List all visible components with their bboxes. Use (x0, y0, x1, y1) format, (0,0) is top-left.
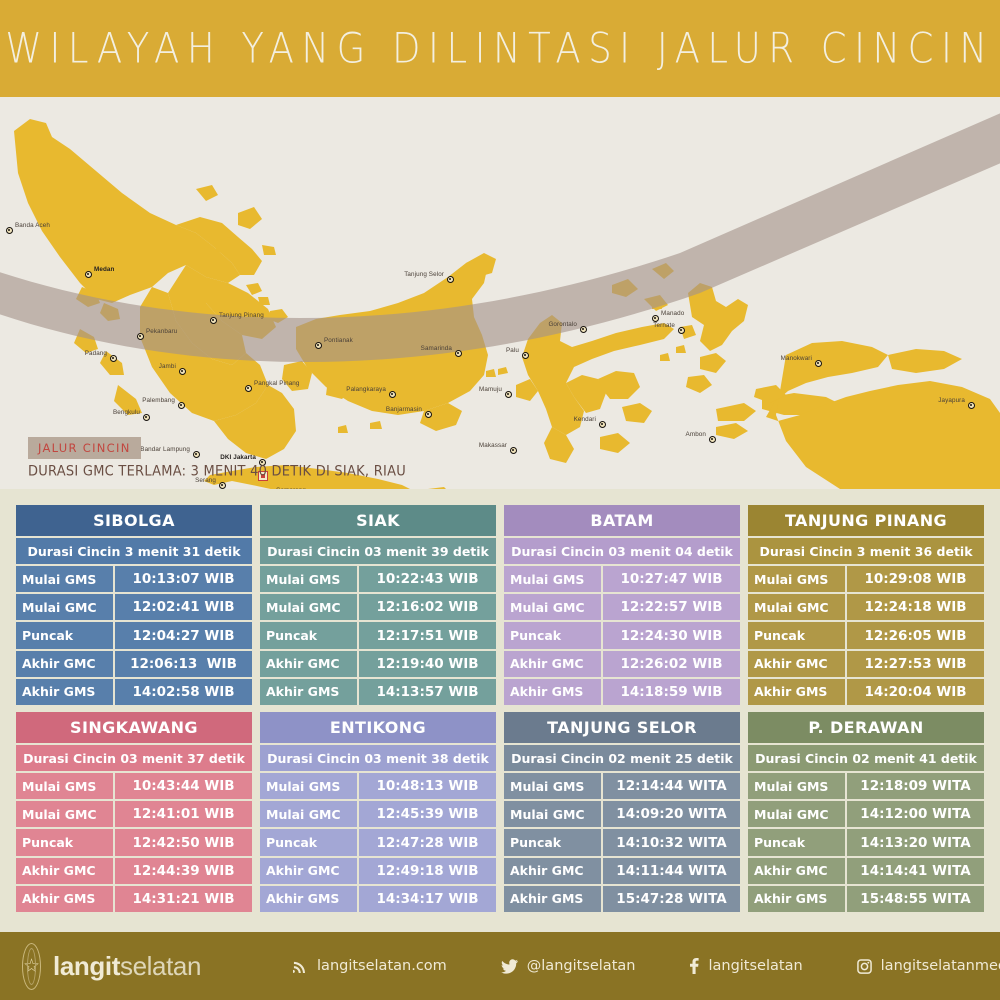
row-label: Akhir GMC (16, 858, 113, 884)
city-pin-icon (179, 368, 186, 375)
seal-inner-ring (27, 948, 36, 985)
page-header: WILAYAH YANG DILINTASI JALUR CINCIN (0, 0, 1000, 97)
table-row: Mulai GMS10:43:44 WIB (16, 773, 252, 799)
table-row: Akhir GMC12:06:13 WIB (16, 651, 252, 677)
row-value: 12:45:39 WIB (359, 801, 496, 827)
table-row: Mulai GMS10:48:13 WIB (260, 773, 496, 799)
row-label: Puncak (16, 622, 113, 648)
row-label: Akhir GMC (260, 858, 357, 884)
table-row: Mulai GMS10:13:07 WIB (16, 566, 252, 592)
table-row: Akhir GMS14:20:04 WIB (748, 679, 984, 705)
city-pin-icon (245, 385, 252, 392)
row-value: 10:13:07 WIB (115, 566, 252, 592)
table-row: Puncak14:13:20 WITA (748, 829, 984, 855)
city-pin-icon (389, 391, 396, 398)
city-pin-icon (425, 411, 432, 418)
table-row: Mulai GMC12:02:41 WIB (16, 594, 252, 620)
card-duration: Durasi Cincin 03 menit 04 detik (504, 538, 740, 564)
table-row: Akhir GMC14:11:44 WITA (504, 858, 740, 884)
table-row: Akhir GMS14:18:59 WIB (504, 679, 740, 705)
card-title: P. DERAWAN (748, 712, 984, 743)
page-title: WILAYAH YANG DILINTASI JALUR CINCIN (5, 24, 994, 72)
row-value: 12:47:28 WIB (359, 829, 496, 855)
row-value: 10:22:43 WIB (359, 566, 496, 592)
row-value: 14:10:32 WITA (603, 829, 740, 855)
twitter-icon (501, 959, 518, 974)
brand-wordmark-light: selatan (120, 951, 201, 981)
row-label: Mulai GMC (260, 594, 357, 620)
table-row: Puncak12:47:28 WIB (260, 829, 496, 855)
city-label: Ambon (686, 431, 706, 438)
row-label: Akhir GMS (504, 679, 601, 705)
city-label: Pangkal Pinang (254, 380, 300, 387)
row-value: 14:13:20 WITA (847, 829, 984, 855)
table-row: Akhir GMC12:26:02 WIB (504, 651, 740, 677)
table-row: Akhir GMS14:02:58 WIB (16, 679, 252, 705)
map-graphic (0, 97, 1000, 489)
card-title: SINGKAWANG (16, 712, 252, 743)
row-label: Mulai GMS (16, 773, 113, 799)
table-row: Akhir GMC12:44:39 WIB (16, 858, 252, 884)
social-label: langitselatan.com (317, 958, 447, 974)
city-label: Mamuju (479, 386, 502, 393)
city-pin-icon (447, 276, 454, 283)
row-label: Puncak (260, 829, 357, 855)
social-link-instagram[interactable]: langitselatanmedia (857, 958, 1000, 974)
row-label: Mulai GMS (260, 773, 357, 799)
row-label: Akhir GMS (16, 886, 113, 912)
row-label: Puncak (504, 829, 601, 855)
row-value: 12:02:41 WIB (115, 594, 252, 620)
card-duration: Durasi Cincin 02 menit 41 detik (748, 745, 984, 771)
row-label: Mulai GMS (260, 566, 357, 592)
city-label: Kendari (574, 416, 596, 423)
card-duration: Durasi Cincin 3 menit 36 detik (748, 538, 984, 564)
table-row: Puncak12:17:51 WIB (260, 622, 496, 648)
legend-chip-jalur-cincin: JALUR CINCIN (28, 437, 141, 459)
card-title: TANJUNG SELOR (504, 712, 740, 743)
row-value: 14:09:20 WITA (603, 801, 740, 827)
city-pin-icon (709, 436, 716, 443)
social-label: langitselatan (708, 958, 802, 974)
row-label: Akhir GMC (748, 651, 845, 677)
city-pin-icon (110, 355, 117, 362)
city-label: Palangkaraya (346, 386, 386, 393)
card-duration: Durasi Cincin 03 menit 38 detik (260, 745, 496, 771)
city-card: SIAKDurasi Cincin 03 menit 39 detikMulai… (260, 505, 496, 705)
row-label: Mulai GMC (260, 801, 357, 827)
row-value: 12:24:30 WIB (603, 622, 740, 648)
city-pin-icon (505, 391, 512, 398)
city-card: P. DERAWANDurasi Cincin 02 menit 41 deti… (748, 712, 984, 912)
brand-wordmark-bold: langit (53, 951, 120, 981)
table-row: Mulai GMC12:16:02 WIB (260, 594, 496, 620)
indonesia-map: Banda AcehMedanPekanbaruPadangJambiBengk… (0, 97, 1000, 489)
row-value: 12:44:39 WIB (115, 858, 252, 884)
city-label: Bengkulu (113, 409, 140, 416)
city-label: Jambi (159, 363, 176, 370)
row-label: Mulai GMC (16, 801, 113, 827)
city-label: Palembang (142, 397, 175, 404)
row-value: 14:18:59 WIB (603, 679, 740, 705)
card-title: BATAM (504, 505, 740, 536)
city-label: Tanjung Selor (404, 271, 444, 278)
row-value: 14:13:57 WIB (359, 679, 496, 705)
row-value: 10:48:13 WIB (359, 773, 496, 799)
row-value: 14:02:58 WIB (115, 679, 252, 705)
row-label: Akhir GMS (504, 886, 601, 912)
table-row: Puncak12:26:05 WIB (748, 622, 984, 648)
table-row: Mulai GMS10:27:47 WIB (504, 566, 740, 592)
row-label: Mulai GMS (504, 773, 601, 799)
city-card: ENTIKONGDurasi Cincin 03 menit 38 detikM… (260, 712, 496, 912)
card-rows: Mulai GMS10:22:43 WIBMulai GMC12:16:02 W… (260, 566, 496, 705)
city-pin-icon (599, 421, 606, 428)
card-duration: Durasi Cincin 03 menit 37 detik (16, 745, 252, 771)
row-value: 14:20:04 WIB (847, 679, 984, 705)
table-row: Akhir GMS14:13:57 WIB (260, 679, 496, 705)
city-card: TANJUNG PINANGDurasi Cincin 3 menit 36 d… (748, 505, 984, 705)
social-link-facebook[interactable]: langitselatan (689, 958, 802, 974)
row-value: 12:16:02 WIB (359, 594, 496, 620)
table-row: Mulai GMS10:29:08 WIB (748, 566, 984, 592)
city-pin-icon (815, 360, 822, 367)
city-label: Palu (506, 347, 519, 354)
table-row: Mulai GMC12:41:01 WIB (16, 801, 252, 827)
row-label: Akhir GMS (16, 679, 113, 705)
row-value: 15:47:28 WITA (603, 886, 740, 912)
city-pin-icon (137, 333, 144, 340)
row-label: Akhir GMC (16, 651, 113, 677)
city-timing-cards: SIBOLGADurasi Cincin 3 menit 31 detikMul… (0, 489, 1000, 932)
city-label: Ternate (653, 322, 675, 329)
row-value: 14:11:44 WITA (603, 858, 740, 884)
table-row: Mulai GMS12:18:09 WITA (748, 773, 984, 799)
table-row: Akhir GMC12:27:53 WIB (748, 651, 984, 677)
row-value: 12:26:02 WIB (603, 651, 740, 677)
row-label: Puncak (748, 622, 845, 648)
city-label: Pontianak (324, 337, 353, 344)
social-link-twitter[interactable]: @langitselatan (501, 958, 636, 974)
city-label: Banjarmasin (386, 406, 422, 413)
row-label: Akhir GMS (260, 679, 357, 705)
city-label: Gorontalo (548, 321, 577, 328)
table-row: Puncak14:10:32 WITA (504, 829, 740, 855)
row-label: Mulai GMS (748, 566, 845, 592)
row-value: 15:48:55 WITA (847, 886, 984, 912)
city-label: Medan (94, 266, 114, 273)
table-row: Akhir GMC12:19:40 WIB (260, 651, 496, 677)
table-row: Akhir GMS14:34:17 WIB (260, 886, 496, 912)
row-value: 14:14:41 WITA (847, 858, 984, 884)
card-duration: Durasi Cincin 03 menit 39 detik (260, 538, 496, 564)
row-value: 14:12:00 WITA (847, 801, 984, 827)
table-row: Puncak12:42:50 WIB (16, 829, 252, 855)
card-title: SIBOLGA (16, 505, 252, 536)
card-title: SIAK (260, 505, 496, 536)
row-value: 12:06:13 WIB (115, 651, 252, 677)
row-label: Puncak (504, 622, 601, 648)
table-row: Akhir GMC12:49:18 WIB (260, 858, 496, 884)
row-label: Puncak (748, 829, 845, 855)
city-label: Manokwari (781, 355, 812, 362)
social-label: langitselatanmedia (881, 958, 1000, 974)
city-pin-icon (178, 402, 185, 409)
row-label: Mulai GMC (504, 801, 601, 827)
city-pin-icon (510, 447, 517, 454)
city-pin-icon (143, 414, 150, 421)
city-pin-icon (315, 342, 322, 349)
card-rows: Mulai GMS12:14:44 WITAMulai GMC14:09:20 … (504, 773, 740, 912)
row-label: Akhir GMC (748, 858, 845, 884)
city-pin-icon (85, 271, 92, 278)
card-rows: Mulai GMS10:48:13 WIBMulai GMC12:45:39 W… (260, 773, 496, 912)
city-card: SIBOLGADurasi Cincin 3 menit 31 detikMul… (16, 505, 252, 705)
row-value: 10:29:08 WIB (847, 566, 984, 592)
table-row: Puncak12:04:27 WIB (16, 622, 252, 648)
card-title: TANJUNG PINANG (748, 505, 984, 536)
table-row: Puncak12:24:30 WIB (504, 622, 740, 648)
instagram-icon (857, 959, 872, 974)
social-link-rss[interactable]: langitselatan.com (293, 958, 447, 974)
table-row: Mulai GMC14:09:20 WITA (504, 801, 740, 827)
row-label: Mulai GMC (504, 594, 601, 620)
table-row: Mulai GMC12:24:18 WIB (748, 594, 984, 620)
table-row: Mulai GMC12:22:57 WIB (504, 594, 740, 620)
city-pin-icon (210, 317, 217, 324)
row-value: 12:41:01 WIB (115, 801, 252, 827)
city-pin-icon (6, 227, 13, 234)
social-label: @langitselatan (527, 958, 636, 974)
city-pin-icon (522, 352, 529, 359)
city-pin-icon (580, 326, 587, 333)
city-pin-icon (678, 327, 685, 334)
row-value: 12:22:57 WIB (603, 594, 740, 620)
row-value: 14:34:17 WIB (359, 886, 496, 912)
table-row: Akhir GMS15:47:28 WITA (504, 886, 740, 912)
card-rows: Mulai GMS10:13:07 WIBMulai GMC12:02:41 W… (16, 566, 252, 705)
row-value: 12:49:18 WIB (359, 858, 496, 884)
row-label: Akhir GMS (260, 886, 357, 912)
row-label: Akhir GMC (504, 651, 601, 677)
page-footer: ☆ langitselatan langitselatan.com@langit… (0, 932, 1000, 1000)
card-duration: Durasi Cincin 3 menit 31 detik (16, 538, 252, 564)
city-label: Padang (85, 350, 107, 357)
legend-note: DURASI GMC TERLAMA: 3 MENIT 40 DETIK DI … (28, 464, 406, 480)
row-value: 12:17:51 WIB (359, 622, 496, 648)
city-label: Bandar Lampung (140, 446, 190, 453)
city-label: Jayapura (938, 397, 965, 404)
row-value: 10:27:47 WIB (603, 566, 740, 592)
table-row: Akhir GMS15:48:55 WITA (748, 886, 984, 912)
row-value: 14:31:21 WIB (115, 886, 252, 912)
table-row: Mulai GMS10:22:43 WIB (260, 566, 496, 592)
card-duration: Durasi Cincin 02 menit 25 detik (504, 745, 740, 771)
rss-icon (293, 959, 308, 974)
city-label: Samarinda (421, 345, 452, 352)
table-row: Mulai GMS12:14:44 WITA (504, 773, 740, 799)
card-rows: Mulai GMS10:43:44 WIBMulai GMC12:41:01 W… (16, 773, 252, 912)
table-row: Mulai GMC14:12:00 WITA (748, 801, 984, 827)
table-row: Akhir GMS14:31:21 WIB (16, 886, 252, 912)
facebook-icon (689, 958, 699, 974)
row-value: 12:27:53 WIB (847, 651, 984, 677)
row-value: 12:18:09 WITA (847, 773, 984, 799)
city-card: BATAMDurasi Cincin 03 menit 04 detikMula… (504, 505, 740, 705)
row-label: Akhir GMC (260, 651, 357, 677)
row-label: Mulai GMC (16, 594, 113, 620)
city-label: DKI Jakarta (220, 454, 256, 461)
city-card: TANJUNG SELORDurasi Cincin 02 menit 25 d… (504, 712, 740, 912)
row-label: Akhir GMS (748, 679, 845, 705)
infographic-page: WILAYAH YANG DILINTASI JALUR CINCIN (0, 0, 1000, 1000)
city-label: Makassar (479, 442, 507, 449)
card-rows: Mulai GMS10:29:08 WIBMulai GMC12:24:18 W… (748, 566, 984, 705)
city-label: Manado (661, 310, 684, 317)
row-label: Akhir GMC (504, 858, 601, 884)
city-card: SINGKAWANGDurasi Cincin 03 menit 37 deti… (16, 712, 252, 912)
city-pin-icon (193, 451, 200, 458)
row-label: Mulai GMS (16, 566, 113, 592)
row-label: Puncak (16, 829, 113, 855)
table-row: Akhir GMC14:14:41 WITA (748, 858, 984, 884)
row-label: Mulai GMC (748, 594, 845, 620)
row-value: 12:24:18 WIB (847, 594, 984, 620)
row-label: Akhir GMS (748, 886, 845, 912)
langitselatan-seal-logo: ☆ (22, 943, 41, 990)
city-label: Tanjung Pinang (219, 312, 264, 319)
city-pin-icon (652, 315, 659, 322)
row-value: 12:26:05 WIB (847, 622, 984, 648)
city-pin-icon (219, 482, 226, 489)
row-label: Mulai GMC (748, 801, 845, 827)
row-value: 12:14:44 WITA (603, 773, 740, 799)
row-value: 12:04:27 WIB (115, 622, 252, 648)
row-label: Puncak (260, 622, 357, 648)
city-pin-icon (968, 402, 975, 409)
row-label: Mulai GMS (504, 566, 601, 592)
city-label: Pekanbaru (146, 328, 177, 335)
row-label: Mulai GMS (748, 773, 845, 799)
brand-wordmark: langitselatan (53, 951, 201, 982)
row-value: 12:19:40 WIB (359, 651, 496, 677)
table-row: Mulai GMC12:45:39 WIB (260, 801, 496, 827)
row-value: 12:42:50 WIB (115, 829, 252, 855)
city-label: Banda Aceh (15, 222, 50, 229)
card-rows: Mulai GMS12:18:09 WITAMulai GMC14:12:00 … (748, 773, 984, 912)
card-rows: Mulai GMS10:27:47 WIBMulai GMC12:22:57 W… (504, 566, 740, 705)
city-pin-icon (455, 350, 462, 357)
row-value: 10:43:44 WIB (115, 773, 252, 799)
card-title: ENTIKONG (260, 712, 496, 743)
social-links: langitselatan.com@langitselatanlangitsel… (293, 958, 1000, 974)
